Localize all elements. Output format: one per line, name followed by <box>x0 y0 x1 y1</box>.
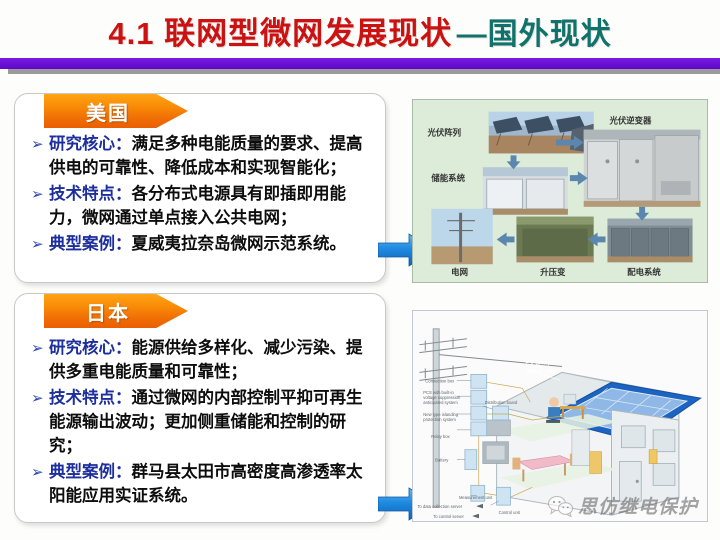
label-to-control-server: To control server <box>433 514 464 519</box>
bullet-text: 技术特点：通过微网的内部控制平抑可再生能源输出波动；更加侧重储能和控制的研究； <box>49 386 373 458</box>
title-divider-bar <box>0 58 720 69</box>
bullet-key-label: 研究核心 <box>49 135 115 153</box>
page-title-sub: —国外现状 <box>457 18 612 51</box>
bullet-key-label: 典型案例 <box>49 235 115 253</box>
photo-step-up-transformer <box>516 217 593 263</box>
bullet-key-label: 研究核心 <box>49 339 115 357</box>
bullet-separator: ： <box>115 463 132 481</box>
list-item: ➢ 典型案例：群马县太田市高密度高渗透率太阳能应用实证系统。 <box>31 460 373 508</box>
bullet-text: 技术特点：各分布式电源具有即插即用能力，微网通过单点接入公共电网； <box>49 182 373 230</box>
list-item: ➢ 研究核心：能源供给多样化、减少污染、提供多重电能质量和可靠性； <box>31 336 373 384</box>
slide-canvas: 4.1 联网型微网发展现状 —国外现状 ➢ 研究核心：满足多种电能质量的要求、提… <box>0 0 720 540</box>
bullet-key-label: 技术特点 <box>49 389 115 407</box>
bullet-arrow-icon: ➢ <box>31 460 49 485</box>
bullet-key-label: 典型案例 <box>49 463 115 481</box>
label-islanding-2: protection system <box>423 417 456 422</box>
bullet-text: 研究核心：满足多种电能质量的要求、提高供电的可靠性、降低成本和实现智能化； <box>49 132 373 180</box>
list-item: ➢ 技术特点：各分布式电源具有即插即用能力，微网通过单点接入公共电网； <box>31 182 373 230</box>
photo-pv-inverter <box>584 130 701 207</box>
bullet-arrow-icon: ➢ <box>31 232 49 257</box>
bullet-text: 典型案例：群马县太田市高密度高渗透率太阳能应用实证系统。 <box>49 460 373 508</box>
label-connection-box: Connection box <box>425 378 455 383</box>
bullet-arrow-icon: ➢ <box>31 182 49 207</box>
bullet-text: 典型案例：夏威夷拉奈岛微网示范系统。 <box>49 232 346 256</box>
bullet-arrow-icon: ➢ <box>31 386 49 411</box>
photo-energy-storage <box>483 167 568 214</box>
list-item: ➢ 研究核心：满足多种电能质量的要求、提高供电的可靠性、降低成本和实现智能化； <box>31 132 373 180</box>
label-control-unit: Control unit <box>499 510 521 515</box>
house-structure <box>497 372 701 515</box>
label-energy-storage: 储能系统 <box>430 173 465 183</box>
label-grid: 电网 <box>451 267 468 277</box>
bullet-body-text: 夏威夷拉奈岛微网示范系统。 <box>132 235 347 253</box>
bullet-separator: ： <box>115 135 132 153</box>
figure-residential-pv-house: PV array (Solar cell) Connection box PCS… <box>412 310 708 522</box>
label-pcs-3: anticipated system <box>423 400 458 405</box>
label-pv-inverter: 光伏逆变器 <box>608 116 652 126</box>
list-item: ➢ 技术特点：通过微网的内部控制平抑可再生能源输出波动；更加侧重储能和控制的研究… <box>31 386 373 458</box>
bullet-key-label: 技术特点 <box>49 185 115 203</box>
page-title: 4.1 联网型微网发展现状 —国外现状 <box>0 8 720 53</box>
label-to-data-server: To data collection server <box>417 504 462 509</box>
bullet-text: 研究核心：能源供给多样化、减少污染、提供多重电能质量和可靠性； <box>49 336 373 384</box>
label-relay-box: Relay box <box>431 434 450 439</box>
label-battery: Battery <box>435 458 449 463</box>
photo-distribution-system <box>607 219 692 263</box>
title-divider-shadow <box>8 69 720 74</box>
bullet-separator: ： <box>115 389 132 407</box>
label-measurement-unit: Measurement unit <box>459 495 493 500</box>
section-banner-label: 美国 <box>86 97 130 126</box>
bullet-arrow-icon: ➢ <box>31 336 49 361</box>
bullet-separator: ： <box>115 339 132 357</box>
label-solar-cell-en: (Solar cell) <box>525 368 556 375</box>
bullet-separator: ： <box>115 235 132 253</box>
figure-pv-plant-flow: 光伏阵列 储能系统 光伏逆变器 电网 升压变 配电系统 <box>412 99 708 283</box>
meter-box <box>649 450 657 464</box>
label-pv-array-en: PV array <box>525 359 551 366</box>
page-title-main: 4.1 联网型微网发展现状 <box>108 16 452 51</box>
bullet-arrow-icon: ➢ <box>31 132 49 157</box>
label-step-up-transformer: 升压变 <box>540 267 566 277</box>
label-pv-array: 光伏阵列 <box>426 128 461 138</box>
bullet-separator: ： <box>115 185 132 203</box>
photo-grid-pole <box>431 209 492 264</box>
section-banner-label: 日本 <box>86 297 130 326</box>
photo-pv-array <box>489 112 594 154</box>
label-distribution-system: 配电系统 <box>627 267 661 277</box>
list-item: ➢ 典型案例：夏威夷拉奈岛微网示范系统。 <box>31 232 373 257</box>
label-distribution-board: Distribution board <box>485 400 518 405</box>
